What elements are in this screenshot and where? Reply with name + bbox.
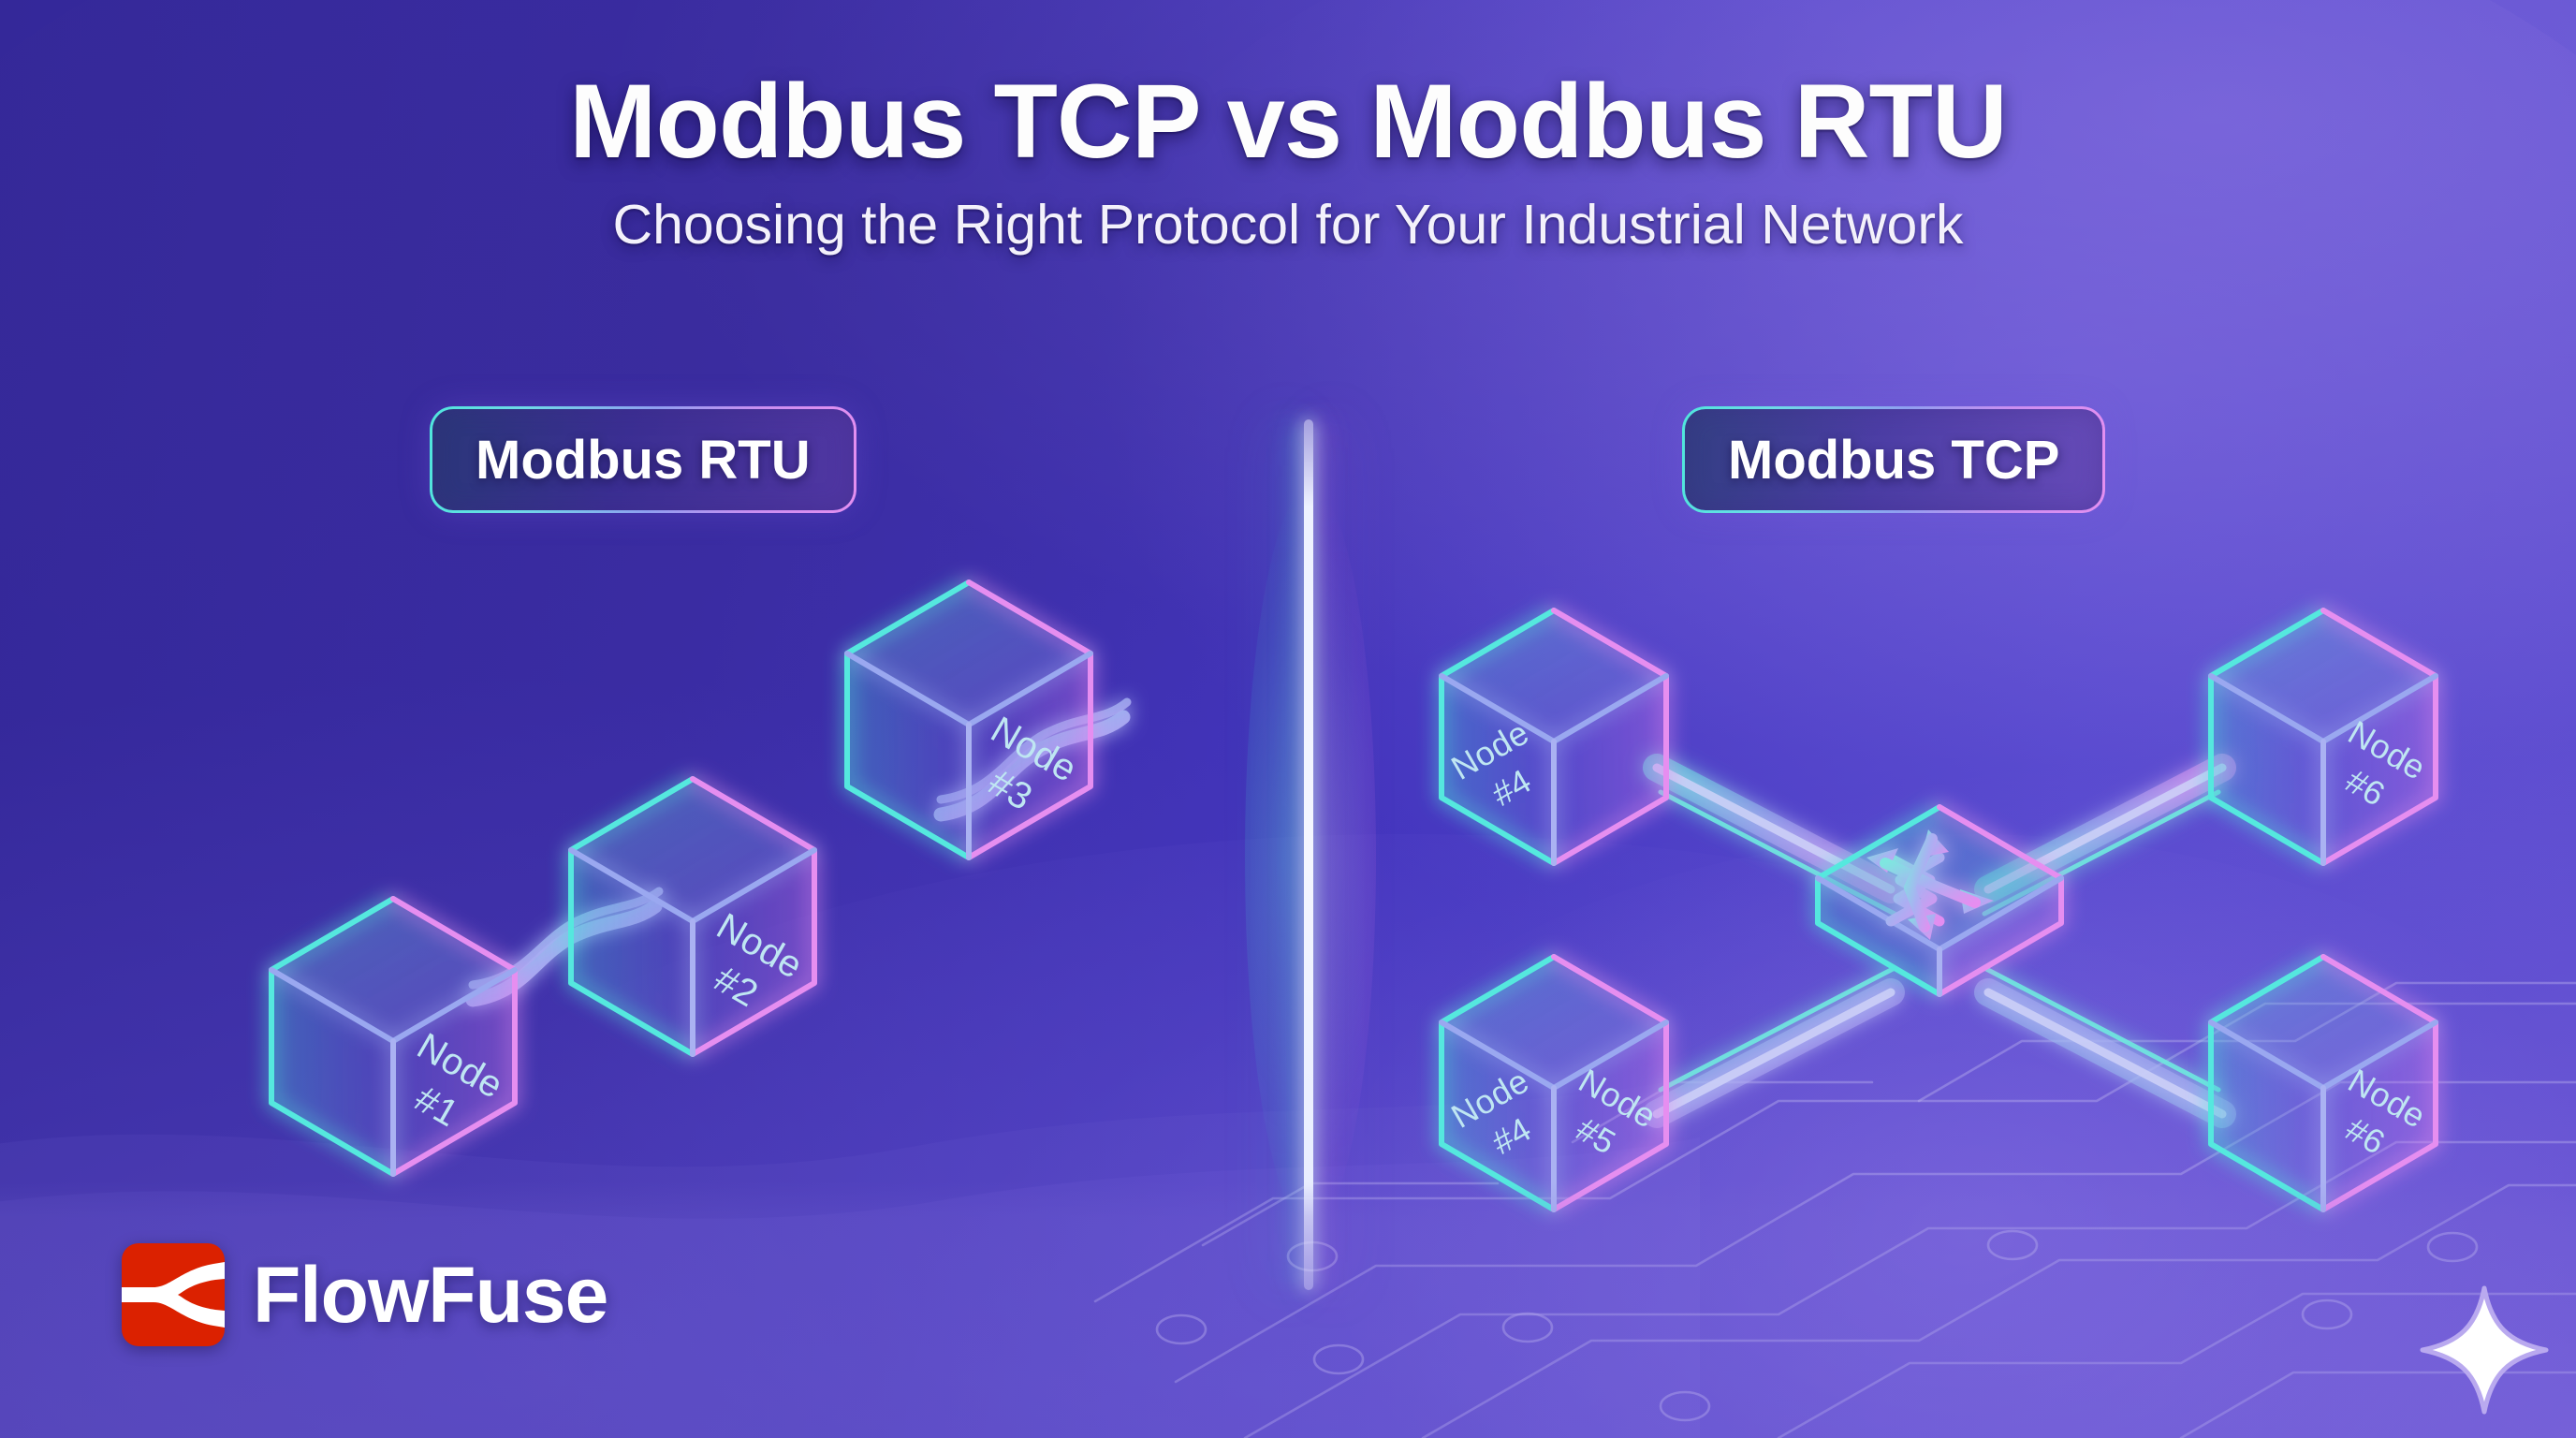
tcp-node-bottom-left-b-label: Node #5	[1551, 1061, 1663, 1172]
flowfuse-wordmark: FlowFuse	[253, 1250, 607, 1341]
tcp-node-bottom-left[interactable]	[1442, 957, 1666, 1210]
rtu-node-3[interactable]	[847, 582, 1090, 858]
tcp-node-bottom-right-label: Node #6	[2320, 1061, 2433, 1172]
rtu-node-1-label-line2: #1	[408, 1078, 465, 1136]
badge-modbus-rtu[interactable]: Modbus RTU	[432, 409, 854, 510]
rtu-node-3-label: Node #3	[960, 709, 1084, 830]
tcp-node-top-right[interactable]	[2211, 610, 2436, 863]
tcp-node-top-left-label: Node #4	[1444, 712, 1557, 824]
rtu-node-3-label-line1: Node	[984, 709, 1084, 790]
badge-modbus-rtu-label: Modbus RTU	[476, 429, 811, 492]
tcp-node-top-right-label-line2: #6	[2339, 761, 2392, 814]
vertical-neon-divider	[1304, 419, 1313, 1290]
flowfuse-logo[interactable]: FlowFuse	[122, 1243, 607, 1346]
badge-modbus-tcp[interactable]: Modbus TCP	[1685, 409, 2102, 510]
tcp-cable-top-right	[1984, 768, 2222, 914]
four-point-sparkle-icon	[2419, 1284, 2550, 1416]
four-way-arrows-glyph	[1866, 829, 1994, 940]
header: Modbus TCP vs Modbus RTU Choosing the Ri…	[0, 67, 2576, 257]
tcp-node-top-left[interactable]	[1442, 610, 1666, 863]
background-swirl-bottom-left	[309, 834, 2498, 1438]
banner-canvas: Modbus TCP vs Modbus RTU Choosing the Ri…	[0, 0, 2576, 1438]
tcp-node-top-right-label-line1: Node	[2342, 712, 2433, 787]
tcp-node-bottom-right[interactable]	[2211, 957, 2436, 1210]
tcp-node-top-left-label-line2: #4	[1486, 761, 1538, 814]
four-way-arrows-icon	[1889, 829, 1939, 921]
tcp-node-bottom-left-a-label: Node #4	[1444, 1061, 1557, 1172]
rtu-cable-1-2	[473, 891, 659, 1000]
rtu-node-2[interactable]	[571, 779, 814, 1054]
tcp-node-bottom-right-label-line1: Node	[2342, 1061, 2433, 1136]
page-title: Modbus TCP vs Modbus RTU	[0, 67, 2576, 176]
tcp-cable-bottom-left	[1657, 968, 1895, 1114]
rtu-cable-2-3	[941, 702, 1127, 814]
page-subtitle: Choosing the Right Protocol for Your Ind…	[0, 193, 2576, 257]
background-swirl-bottom-right	[1262, 834, 2576, 1438]
tcp-switch[interactable]	[1818, 807, 2061, 994]
badge-modbus-tcp-label: Modbus TCP	[1728, 429, 2059, 492]
rtu-node-1-label: Node #1	[387, 1025, 510, 1147]
tcp-node-top-left-label-line1: Node	[1444, 712, 1535, 787]
tcp-cable-bottom-right	[1984, 968, 2222, 1114]
four-way-arrows-lines	[1885, 839, 1975, 927]
rtu-node-3-label-line2: #3	[982, 762, 1039, 819]
rtu-node-2-label-line2: #2	[708, 959, 765, 1016]
tcp-node-bottom-left-a-label-line2: #4	[1486, 1109, 1538, 1162]
tcp-node-bottom-left-a-label-line1: Node	[1444, 1061, 1535, 1136]
tcp-node-top-right-label: Node #6	[2320, 712, 2433, 824]
flowfuse-logo-mark	[122, 1243, 225, 1346]
tcp-cable-top-left	[1657, 768, 1895, 914]
rtu-node-1[interactable]	[271, 899, 515, 1174]
tcp-node-bottom-left-b-label-line1: Node	[1573, 1061, 1663, 1136]
tcp-node-bottom-left-b-label-line2: #5	[1570, 1109, 1622, 1162]
fuse-glyph-icon	[122, 1243, 225, 1346]
rtu-node-2-label: Node #2	[686, 905, 810, 1027]
rtu-node-1-label-line1: Node	[410, 1025, 510, 1107]
rtu-node-2-label-line1: Node	[710, 905, 810, 987]
tcp-node-bottom-right-label-line2: #6	[2339, 1109, 2392, 1162]
